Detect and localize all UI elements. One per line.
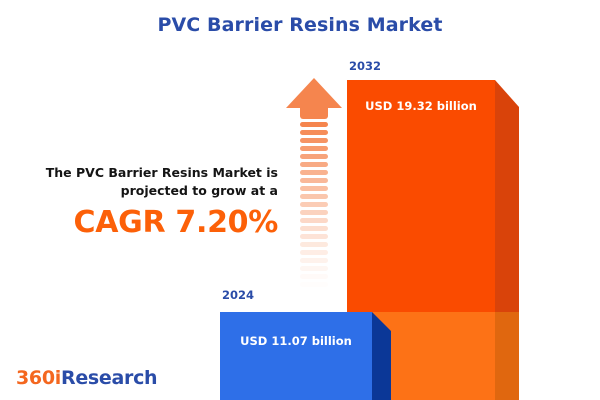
page-title: PVC Barrier Resins Market (0, 14, 600, 36)
arrow-stripe (300, 282, 328, 287)
arrow-stripe (300, 218, 328, 223)
arrow-stripe (300, 186, 328, 191)
bar-2032-side-upper (495, 80, 519, 312)
arrow-stripe (300, 226, 328, 231)
arrow-stripe (300, 138, 328, 143)
brand-logo-part-orange: 360i (16, 367, 61, 389)
bar-2032-front-upper (347, 80, 495, 312)
arrow-stripe (300, 170, 328, 175)
arrow-stripe (300, 250, 328, 255)
arrow-stripe (300, 130, 328, 135)
arrow-stripe (300, 210, 328, 215)
bar-2032-side-lower (495, 312, 519, 400)
arrow-stripe (300, 202, 328, 207)
arrow-stripe (300, 162, 328, 167)
infographic-canvas: PVC Barrier Resins Market The PVC Barrie… (0, 0, 600, 400)
arrow-stripe (300, 258, 328, 263)
arrow-stripe (300, 274, 328, 279)
arrow-stripe (300, 122, 328, 127)
bar-2024-front (220, 312, 372, 400)
bar-2024: USD 11.07 billion (220, 312, 372, 400)
upward-growth-arrow-icon (286, 78, 342, 290)
arrow-stripe (300, 146, 328, 151)
cagr-value: CAGR 7.20% (26, 208, 278, 238)
bar-label-year-2024: 2024 (222, 288, 254, 302)
arrow-stripe (300, 242, 328, 247)
arrow-neck (300, 107, 328, 119)
arrow-stripe (300, 290, 328, 295)
brand-logo[interactable]: 360iResearch (16, 367, 157, 389)
bar-value-label-2024: USD 11.07 billion (220, 334, 372, 348)
arrow-stripe (300, 178, 328, 183)
arrow-head-icon (286, 78, 342, 108)
caption-block: The PVC Barrier Resins Market is project… (26, 164, 278, 238)
bar-value-label-2032: USD 19.32 billion (347, 99, 495, 113)
brand-logo-part-blue: Research (61, 367, 157, 389)
caption-line-1: The PVC Barrier Resins Market is (26, 164, 278, 182)
arrow-stripe (300, 154, 328, 159)
arrow-stripe (300, 194, 328, 199)
arrow-stripe (300, 266, 328, 271)
bar-label-year-2032: 2032 (349, 59, 381, 73)
caption-text: The PVC Barrier Resins Market is project… (26, 164, 278, 200)
arrow-stripe (300, 234, 328, 239)
caption-line-2: projected to grow at a (26, 182, 278, 200)
